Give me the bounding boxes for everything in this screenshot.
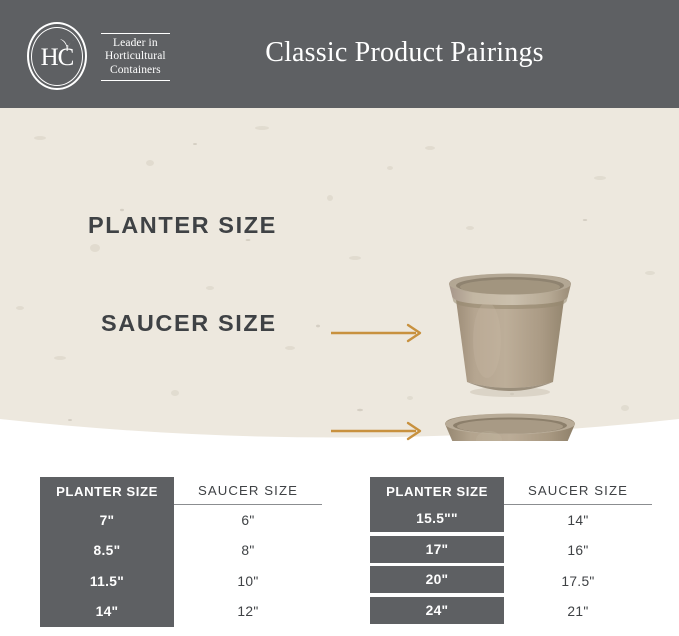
cell-planter-size: 24" (370, 597, 504, 624)
cell-planter-size: 7" (40, 505, 174, 536)
page-title: Classic Product Pairings (0, 37, 679, 69)
saucer-dish-image (437, 408, 583, 441)
planter-row-bar: 20" (370, 566, 504, 597)
table-row: 14" 12" (40, 597, 322, 628)
cell-planter-size: 20" (370, 566, 504, 593)
hero-panel: PLANTER SIZE SAUCER SIZE (0, 108, 679, 441)
cell-planter-size: 8.5" (40, 536, 174, 567)
planter-pot-image (437, 270, 583, 398)
cell-saucer-size: 14" (504, 505, 652, 536)
planter-row-bar: 24" (370, 597, 504, 628)
page-header: HC Leader in Horticultural Containers Cl… (0, 0, 679, 108)
cell-saucer-size: 8" (174, 536, 322, 567)
cell-planter-size: 17" (370, 536, 504, 563)
table-row: 15.5"" 14" (370, 505, 652, 536)
table-row: 8.5" 8" (40, 536, 322, 567)
cell-saucer-size: 21" (504, 597, 652, 628)
table-row: 11.5" 10" (40, 566, 322, 597)
arrow-right-saucer-icon (330, 420, 426, 441)
product-pairings-infographic: HC Leader in Horticultural Containers Cl… (0, 0, 679, 636)
size-tables-section: PLANTER SIZE SAUCER SIZE 7" 6" 8.5" 8" 1… (0, 441, 679, 636)
table-row: 24" 21" (370, 597, 652, 628)
table-row: 17" 16" (370, 536, 652, 567)
cell-saucer-size: 12" (174, 597, 322, 628)
cell-planter-size: 14" (40, 597, 174, 628)
table-row: 7" 6" (40, 505, 322, 536)
column-header-planter: PLANTER SIZE (40, 477, 174, 505)
table-row: 20" 17.5" (370, 566, 652, 597)
cell-planter-size: 15.5"" (370, 505, 504, 532)
cell-saucer-size: 10" (174, 566, 322, 597)
planter-row-bar: 15.5"" (370, 505, 504, 536)
column-header-planter: PLANTER SIZE (370, 477, 504, 505)
table-header-row: PLANTER SIZE SAUCER SIZE (370, 477, 652, 505)
arrow-right-planter-icon (330, 322, 426, 344)
table-body: 7" 6" 8.5" 8" 11.5" 10" 14" 12" (40, 505, 322, 627)
table-small-sizes: PLANTER SIZE SAUCER SIZE 7" 6" 8.5" 8" 1… (40, 477, 322, 627)
cell-planter-size: 11.5" (40, 566, 174, 597)
table-body: 15.5"" 14" 17" 16" 20" 17.5" (370, 505, 652, 627)
cell-saucer-size: 6" (174, 505, 322, 536)
table-large-sizes: PLANTER SIZE SAUCER SIZE 15.5"" 14" 17" … (370, 477, 652, 627)
column-header-saucer: SAUCER SIZE (504, 477, 652, 505)
label-saucer-size: SAUCER SIZE (101, 310, 277, 337)
column-header-saucer: SAUCER SIZE (174, 477, 322, 505)
cell-saucer-size: 17.5" (504, 566, 652, 597)
planter-row-bar: 17" (370, 536, 504, 567)
cell-saucer-size: 16" (504, 536, 652, 567)
label-planter-size: PLANTER SIZE (88, 212, 277, 239)
table-header-row: PLANTER SIZE SAUCER SIZE (40, 477, 322, 505)
